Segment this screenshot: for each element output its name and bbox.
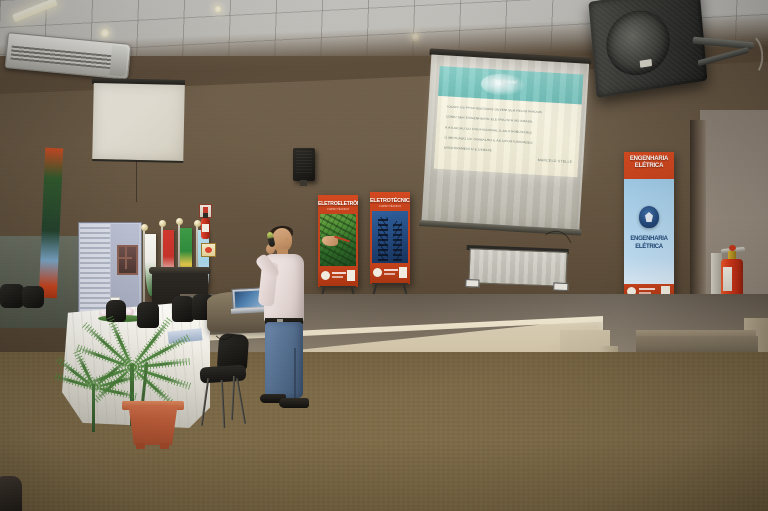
presenter-shoe [279, 398, 309, 408]
banner-image-power-tower [372, 211, 408, 263]
ac-vent-louvers [10, 46, 115, 70]
ac-end-cap [109, 45, 128, 76]
safety-pictogram-icon [205, 247, 212, 253]
presenter-jeans [265, 322, 303, 398]
pa-speaker-badge [640, 59, 652, 68]
potted-palm-planter [125, 405, 181, 445]
banner-footer-text [332, 272, 346, 274]
banner-footer-text [384, 273, 395, 275]
banner-eletroeletronica: ELETROELETRÔNICA CURSO TÉCNICO [318, 195, 358, 287]
chair-leg [236, 378, 246, 424]
slide-header-band: Foz Social [438, 66, 584, 104]
transmission-tower-icon [393, 221, 402, 261]
screen-surface: Foz Social TODOS OS PROFISSIONAIS DEVEM … [421, 54, 589, 231]
speaker-grill [296, 151, 312, 173]
flag-finial [141, 224, 148, 231]
door-window [117, 245, 138, 275]
banner-logo-icon [321, 271, 330, 280]
slide-bullet: TODOS OS PROFISSIONAIS DEVEM SER REGISTR… [446, 105, 572, 116]
slide-logo-text: Foz Social [485, 78, 525, 85]
banner-footer-text [384, 269, 398, 271]
pa-speaker-woofer [604, 6, 673, 80]
banner-subtitle: CURSO TÉCNICO [370, 205, 410, 208]
slide-logo [480, 72, 525, 97]
slide-bullet: COMO SER ENGENHEIRO ELETRICISTA NO BRASI… [446, 116, 572, 127]
door-louvers [80, 224, 110, 312]
chair-back[interactable] [22, 286, 44, 308]
presenter [252, 228, 314, 420]
wall-speaker [293, 148, 315, 181]
banner-eletrotecnica: ELETROTÉCNICA CURSO TÉCNICO [370, 192, 410, 284]
palm-stem [92, 384, 95, 432]
chair-leg [231, 376, 235, 420]
palm-frond [94, 386, 138, 398]
banner-title: ELETROTÉCNICA [370, 198, 410, 204]
banner-footer [318, 268, 358, 287]
banner-title: ELETROELETRÔNICA [318, 201, 358, 207]
banner-subtitle: ENGENHARIA ELÉTRICA [624, 236, 674, 251]
planter-foot [160, 443, 169, 449]
projected-slide: Foz Social TODOS OS PROFISSIONAIS DEVEM … [434, 66, 584, 177]
banner-subtitle: CURSO TÉCNICO [318, 208, 358, 211]
chair-back[interactable] [0, 284, 24, 308]
banner-footer-text [332, 276, 343, 278]
banner-footer [370, 265, 410, 284]
banner-partner-logo-icon [347, 270, 355, 281]
slide-body: TODOS OS PROFISSIONAIS DEVEM SER REGISTR… [434, 96, 582, 177]
projection-screen-left [92, 83, 185, 163]
banner-partner-logo-icon [399, 267, 407, 278]
slide-signature: MARCELO STELLE [538, 158, 573, 164]
pa-speaker-cabinet [588, 0, 707, 98]
slide-bullet: A ATUACAO DO PROFISSIONAL E AS ATRIBUICO… [445, 126, 571, 137]
fire-extinguisher-left [201, 218, 210, 239]
slide-bullet: O MERCADO DE TRABALHO E AS OPORTUNIDADES [444, 136, 570, 147]
flag-finial [176, 218, 183, 225]
banner-title: ENGENHARIA ELÉTRICA [624, 156, 674, 170]
foreground-object [0, 476, 22, 511]
stand-leg [373, 284, 377, 294]
banner-stand [372, 283, 408, 294]
downlight-icon [100, 28, 110, 38]
slide-bullet: ENCERRAMENTO E DEBATE [444, 147, 570, 158]
planter-foot [136, 443, 145, 449]
laptop-cable [212, 312, 236, 340]
banner-crest-logo [639, 206, 659, 228]
banner-engenharia-eletrica: ENGENHARIA ELÉTRICA ENGENHARIA ELÉTRICA [624, 152, 674, 302]
main-projection-screen: Foz Social TODOS OS PROFISSIONAIS DEVEM … [419, 48, 592, 247]
presenter-ear [285, 238, 290, 244]
auditorium-scene: Foz Social TODOS OS PROFISSIONAIS DEVEM … [0, 0, 768, 511]
chair-leg [221, 380, 226, 428]
transmission-tower-icon [378, 217, 388, 261]
speaker-bracket [300, 180, 307, 186]
flag-finial [194, 220, 201, 227]
downlight-icon [214, 5, 222, 13]
safety-sign [201, 243, 216, 257]
banner-footer-text [639, 288, 655, 290]
banner-logo-icon [373, 268, 382, 277]
extinguisher-label [723, 267, 732, 291]
stand-leg [403, 284, 407, 294]
screen-pull-cord[interactable] [136, 160, 137, 202]
trouser-seam [294, 348, 296, 398]
crest-shield-icon [645, 212, 653, 222]
banner-image-circuit [320, 214, 356, 266]
podium-top-surface [149, 267, 211, 274]
flag-finial [159, 220, 166, 227]
